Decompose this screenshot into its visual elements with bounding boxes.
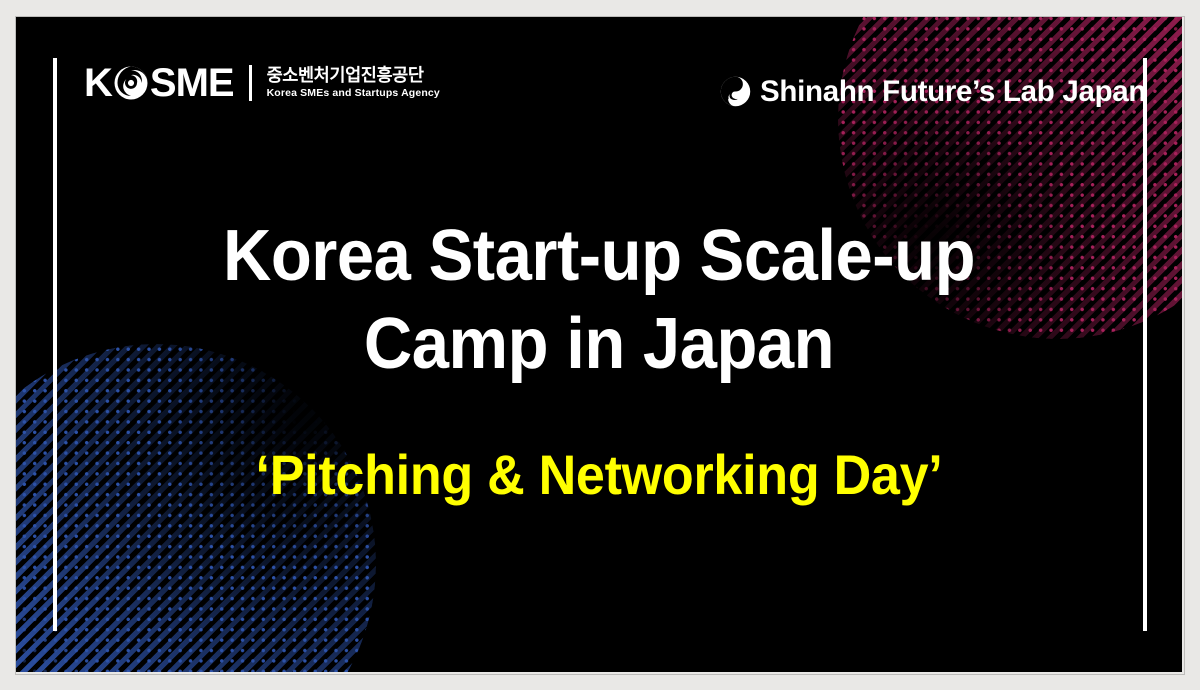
shinahn-wordmark: Shinahn Future’s Lab Japan [760, 77, 1146, 107]
kosme-name-block: 중소벤처기업진흥공단 Korea SMEs and Startups Agenc… [267, 67, 440, 100]
shinahn-s-circle-icon [720, 76, 751, 107]
kosme-wordmark-before: K [84, 63, 112, 103]
kosme-korean-name: 중소벤처기업진흥공단 [267, 67, 440, 87]
headline-block: Korea Start-up Scale-up Camp in Japan ‘P… [16, 213, 1182, 508]
logo-bar: K SME 중소벤처기업진흥공단 Korea SMEs and Startups… [16, 17, 1182, 147]
shinahn-logo: Shinahn Future’s Lab Japan [720, 76, 1146, 107]
subtitle-line: ‘Pitching & Networking Day’ [57, 441, 1141, 508]
kosme-swirl-icon [113, 65, 149, 101]
kosme-wordmark: K SME [84, 63, 234, 103]
slide-frame: K SME 중소벤처기업진흥공단 Korea SMEs and Startups… [0, 0, 1200, 690]
kosme-logo-divider [249, 65, 252, 101]
title-line-2: Camp in Japan [57, 301, 1141, 389]
kosme-wordmark-after: SME [150, 63, 234, 103]
kosme-logo: K SME 중소벤처기업진흥공단 Korea SMEs and Startups… [84, 63, 440, 103]
slide-canvas: K SME 중소벤처기업진흥공단 Korea SMEs and Startups… [16, 17, 1182, 672]
kosme-english-name: Korea SMEs and Startups Agency [267, 87, 440, 99]
title-line-1: Korea Start-up Scale-up [57, 213, 1141, 301]
